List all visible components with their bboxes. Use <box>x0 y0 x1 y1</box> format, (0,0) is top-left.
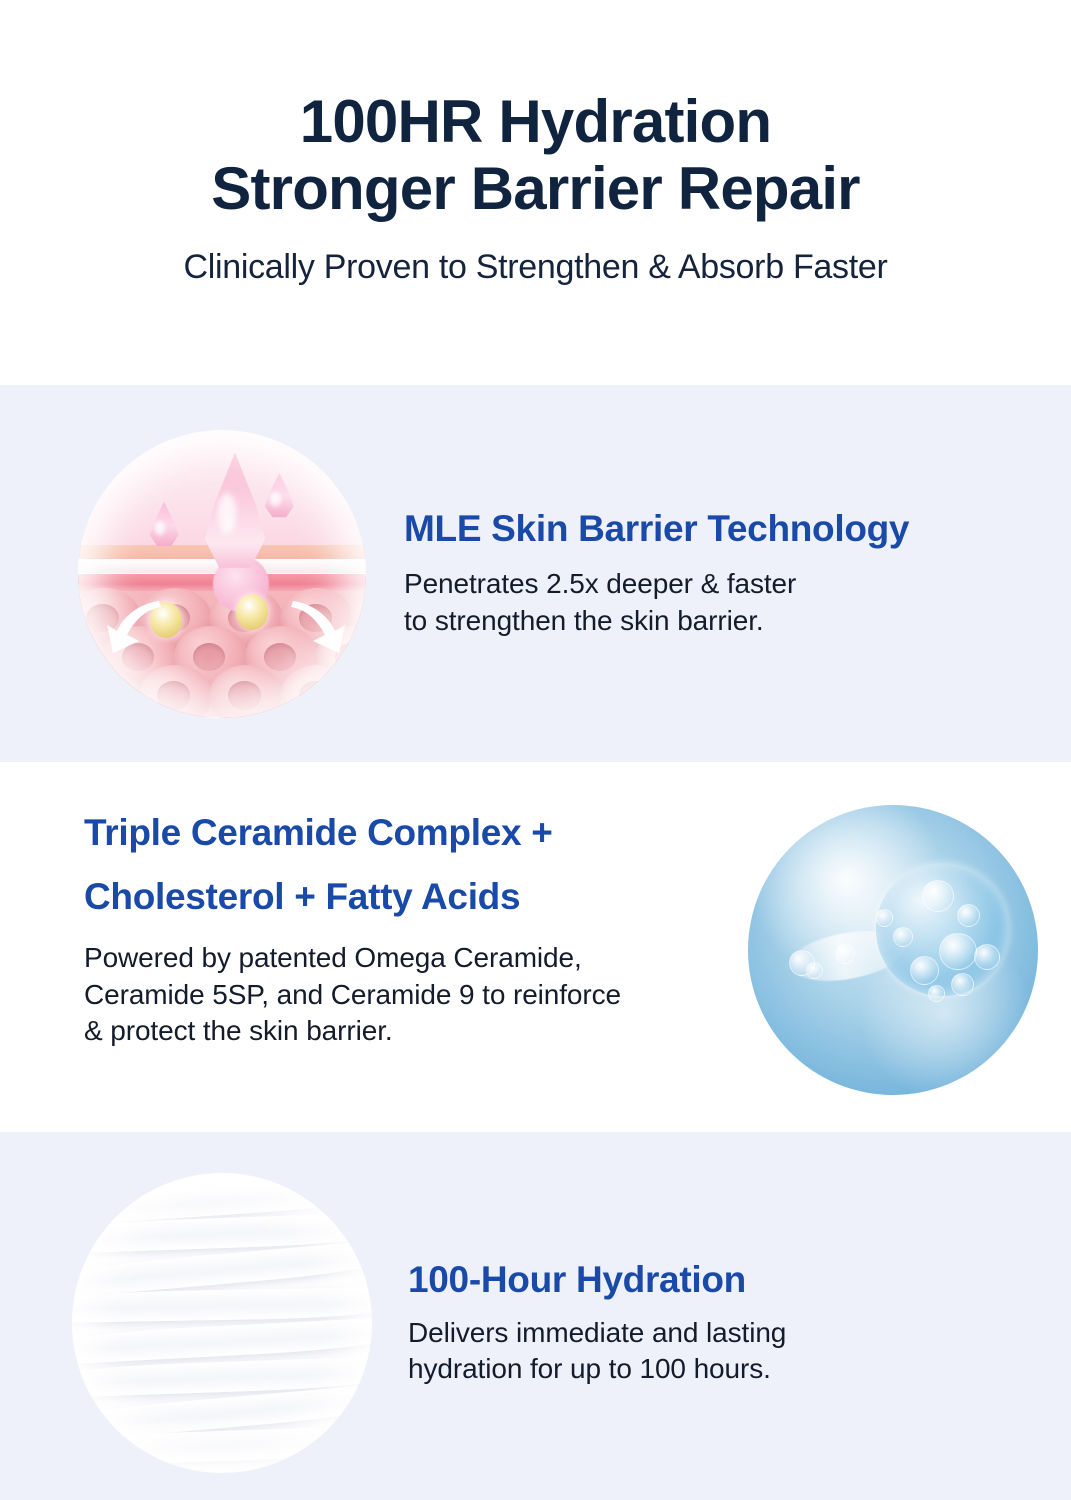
feature-2-heading-line-2: Cholesterol + Fatty Acids <box>84 876 784 918</box>
feature-1-copy: MLE Skin Barrier Technology Penetrates 2… <box>404 508 1004 639</box>
feature-2-copy: Triple Ceramide Complex + Cholesterol + … <box>84 812 784 1050</box>
feature-row-mle-skin-barrier: MLE Skin Barrier Technology Penetrates 2… <box>0 385 1071 762</box>
feature-2-body-line-1: Powered by patented Omega Ceramide, <box>84 940 784 976</box>
feature-1-body-line-2: to strengthen the skin barrier. <box>404 603 1004 639</box>
page-subtitle: Clinically Proven to Strengthen & Absorb… <box>183 248 887 287</box>
infographic-page: 100HR Hydration Stronger Barrier Repair … <box>0 0 1071 1500</box>
feature-row-triple-ceramide: Triple Ceramide Complex + Cholesterol + … <box>0 762 1071 1132</box>
header-section: 100HR Hydration Stronger Barrier Repair … <box>0 0 1071 385</box>
feature-3-heading: 100-Hour Hydration <box>408 1259 998 1301</box>
absorption-arrow-left-icon <box>101 597 167 659</box>
feature-2-body-line-2: Ceramide 5SP, and Ceramide 9 to reinforc… <box>84 977 784 1013</box>
absorption-arrow-right-icon <box>285 597 351 659</box>
white-cream-texture-swatch <box>72 1173 372 1473</box>
feature-3-body-line-1: Delivers immediate and lasting <box>408 1315 998 1351</box>
feature-3-copy: 100-Hour Hydration Delivers immediate an… <box>408 1259 998 1388</box>
page-title-line-2: Stronger Barrier Repair <box>211 155 860 222</box>
feature-row-100-hour-hydration: 100-Hour Hydration Delivers immediate an… <box>0 1132 1071 1500</box>
feature-2-heading-line-1: Triple Ceramide Complex + <box>84 812 784 854</box>
skin-barrier-penetration-illustration <box>78 430 366 718</box>
feature-3-body-line-2: hydration for up to 100 hours. <box>408 1351 998 1387</box>
feature-1-body-line-1: Penetrates 2.5x deeper & faster <box>404 566 1004 602</box>
feature-2-body-line-3: & protect the skin barrier. <box>84 1013 784 1049</box>
page-title-line-1: 100HR Hydration <box>300 88 771 155</box>
ceramide-capsule-right-icon <box>236 594 268 630</box>
feature-1-heading: MLE Skin Barrier Technology <box>404 508 1004 550</box>
blue-water-molecule-sphere <box>748 805 1038 1095</box>
